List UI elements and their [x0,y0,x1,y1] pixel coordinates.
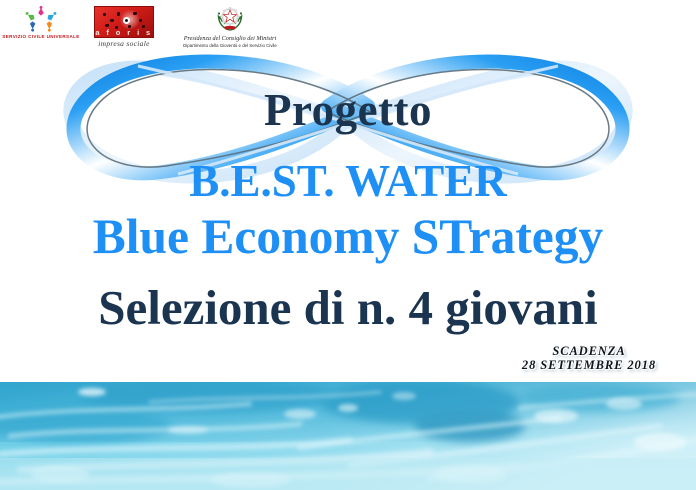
presidenza-line1: Presidenza del Consiglio dei Ministri [176,35,284,42]
logo-servizio-civile: SERVIZIO CIVILE UNIVERSALE [2,6,80,39]
aforis-red-box-icon: a f o r i s [94,6,154,38]
logo-aforis: a f o r i s impresa sociale [90,6,158,48]
project-expansion: Blue Economy STrategy [3,207,692,265]
logo-presidenza-consiglio: Presidenza del Consiglio dei Ministri Di… [176,4,284,48]
poster-canvas: SERVIZIO CIVILE UNIVERSALE a f o r i s i… [0,0,696,490]
water-surface-photo [0,382,696,490]
aforis-subtitle: impresa sociale [90,39,158,48]
page-title-progetto: Progetto [0,84,696,136]
aforis-wordmark: a f o r i s [95,28,153,37]
deadline-date: 28 SETTEMBRE 2018 [522,359,656,373]
italian-republic-emblem-icon [214,4,246,34]
project-acronym: B.E.ST. WATER [0,155,696,207]
headline-block: Progetto B.E.ST. WATER Blue Economy STra… [0,0,696,382]
logo-servizio-civile-caption: SERVIZIO CIVILE UNIVERSALE [2,34,80,39]
deadline-label: SCADENZA [522,345,656,359]
logo-strip: SERVIZIO CIVILE UNIVERSALE a f o r i s i… [0,0,696,54]
water-surface-graphic [0,382,696,490]
presidenza-line2: Dipartimento della Gioventù e del Serviz… [176,43,284,48]
star-people-icon [21,6,61,32]
selection-headline: Selezione di n. 4 giovani [0,279,696,336]
deadline-block: SCADENZA 28 SETTEMBRE 2018 [522,345,656,372]
